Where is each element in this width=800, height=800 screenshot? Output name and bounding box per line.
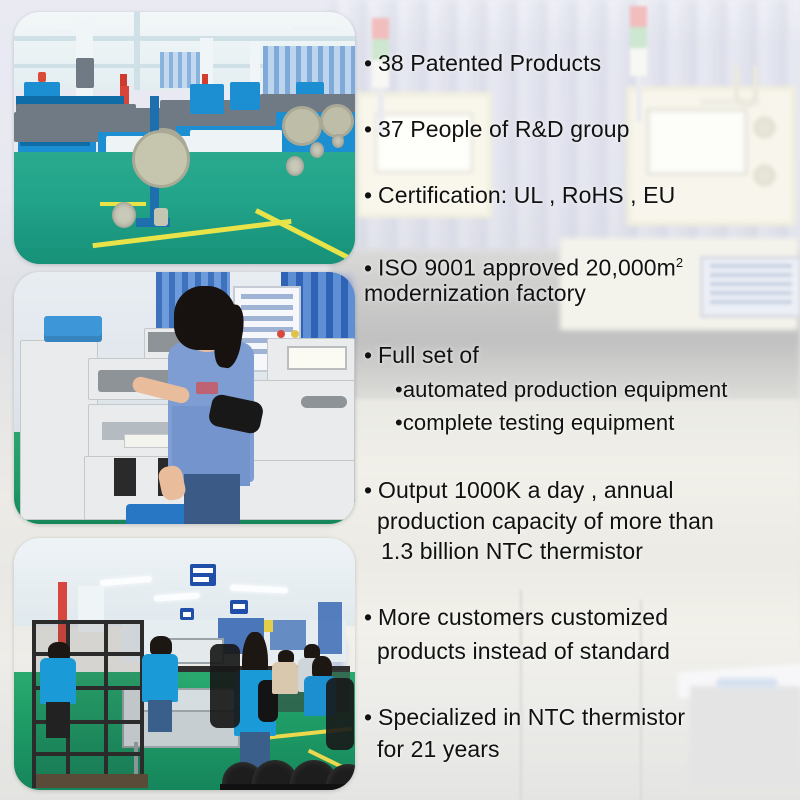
bullet-text: production capacity of more than: [377, 508, 714, 534]
bullet-marker: •: [364, 602, 378, 632]
bullet-specialized-line2: for 21 years: [364, 734, 500, 764]
bullet-text: products instead of standard: [377, 638, 670, 664]
sub-bullet-marker: •: [395, 377, 403, 402]
bullet-marker: •: [364, 340, 378, 370]
bullet-iso-line2: modernization factory: [364, 278, 586, 308]
bullet-text: 38 Patented Products: [378, 50, 601, 76]
bullet-output-line2: production capacity of more than: [364, 506, 714, 536]
capability-slide: •38 Patented Products •37 People of R&D …: [0, 0, 800, 800]
sub-bullet-marker: •: [395, 410, 403, 435]
sub-bullet-text: automated production equipment: [403, 377, 728, 402]
sub-bullet-text: complete testing equipment: [403, 410, 675, 435]
operator-figure: [166, 286, 262, 524]
bullet-marker: •: [364, 475, 378, 505]
bullet-specialized-line1: •Specialized in NTC thermistor: [364, 702, 685, 732]
capability-bullet-list: •38 Patented Products •37 People of R&D …: [364, 0, 800, 800]
superscript-2: 2: [676, 255, 683, 270]
sub-bullet-complete-testing: •complete testing equipment: [364, 408, 674, 438]
bullet-text: Output 1000K a day , annual: [378, 477, 674, 503]
bullet-customized-line1: •More customers customized: [364, 602, 668, 632]
bullet-text: Specialized in NTC thermistor: [378, 704, 685, 730]
bullet-text: 37 People of R&D group: [378, 116, 630, 142]
bullet-certification: •Certification: UL , RoHS , EU: [364, 180, 675, 210]
bullet-text: Full set of: [378, 342, 479, 368]
bullet-text: 1.3 billion NTC thermistor: [381, 538, 643, 564]
photo-operator-at-machine: [14, 272, 355, 524]
bullet-output-line3: 1.3 billion NTC thermistor: [364, 536, 643, 566]
bullet-marker: •: [364, 114, 378, 144]
worker-figure: [272, 650, 300, 708]
bullet-patents: •38 Patented Products: [364, 48, 601, 78]
bullet-text: Certification: UL , RoHS , EU: [378, 182, 675, 208]
bullet-marker: •: [364, 48, 378, 78]
bullet-rnd: •37 People of R&D group: [364, 114, 630, 144]
bullet-text: modernization factory: [364, 280, 586, 306]
bullet-full-set: •Full set of: [364, 340, 479, 370]
photo-factory-production-hall: [14, 12, 355, 264]
bullet-marker: •: [364, 180, 378, 210]
bullet-output-line1: •Output 1000K a day , annual: [364, 475, 674, 505]
unit-label: m: [657, 255, 676, 281]
bullet-text: ISO 9001 approved 20,000: [378, 255, 657, 281]
photo-assembly-line-workers: [14, 538, 355, 790]
bullet-marker: •: [364, 702, 378, 732]
sub-bullet-automated-production: •automated production equipment: [364, 375, 727, 405]
worker-figure: [142, 636, 180, 732]
worker-figure: [38, 642, 78, 738]
bullet-text: for 21 years: [377, 736, 500, 762]
bullet-text: More customers customized: [378, 604, 668, 630]
bullet-customized-line2: products instead of standard: [364, 636, 670, 666]
